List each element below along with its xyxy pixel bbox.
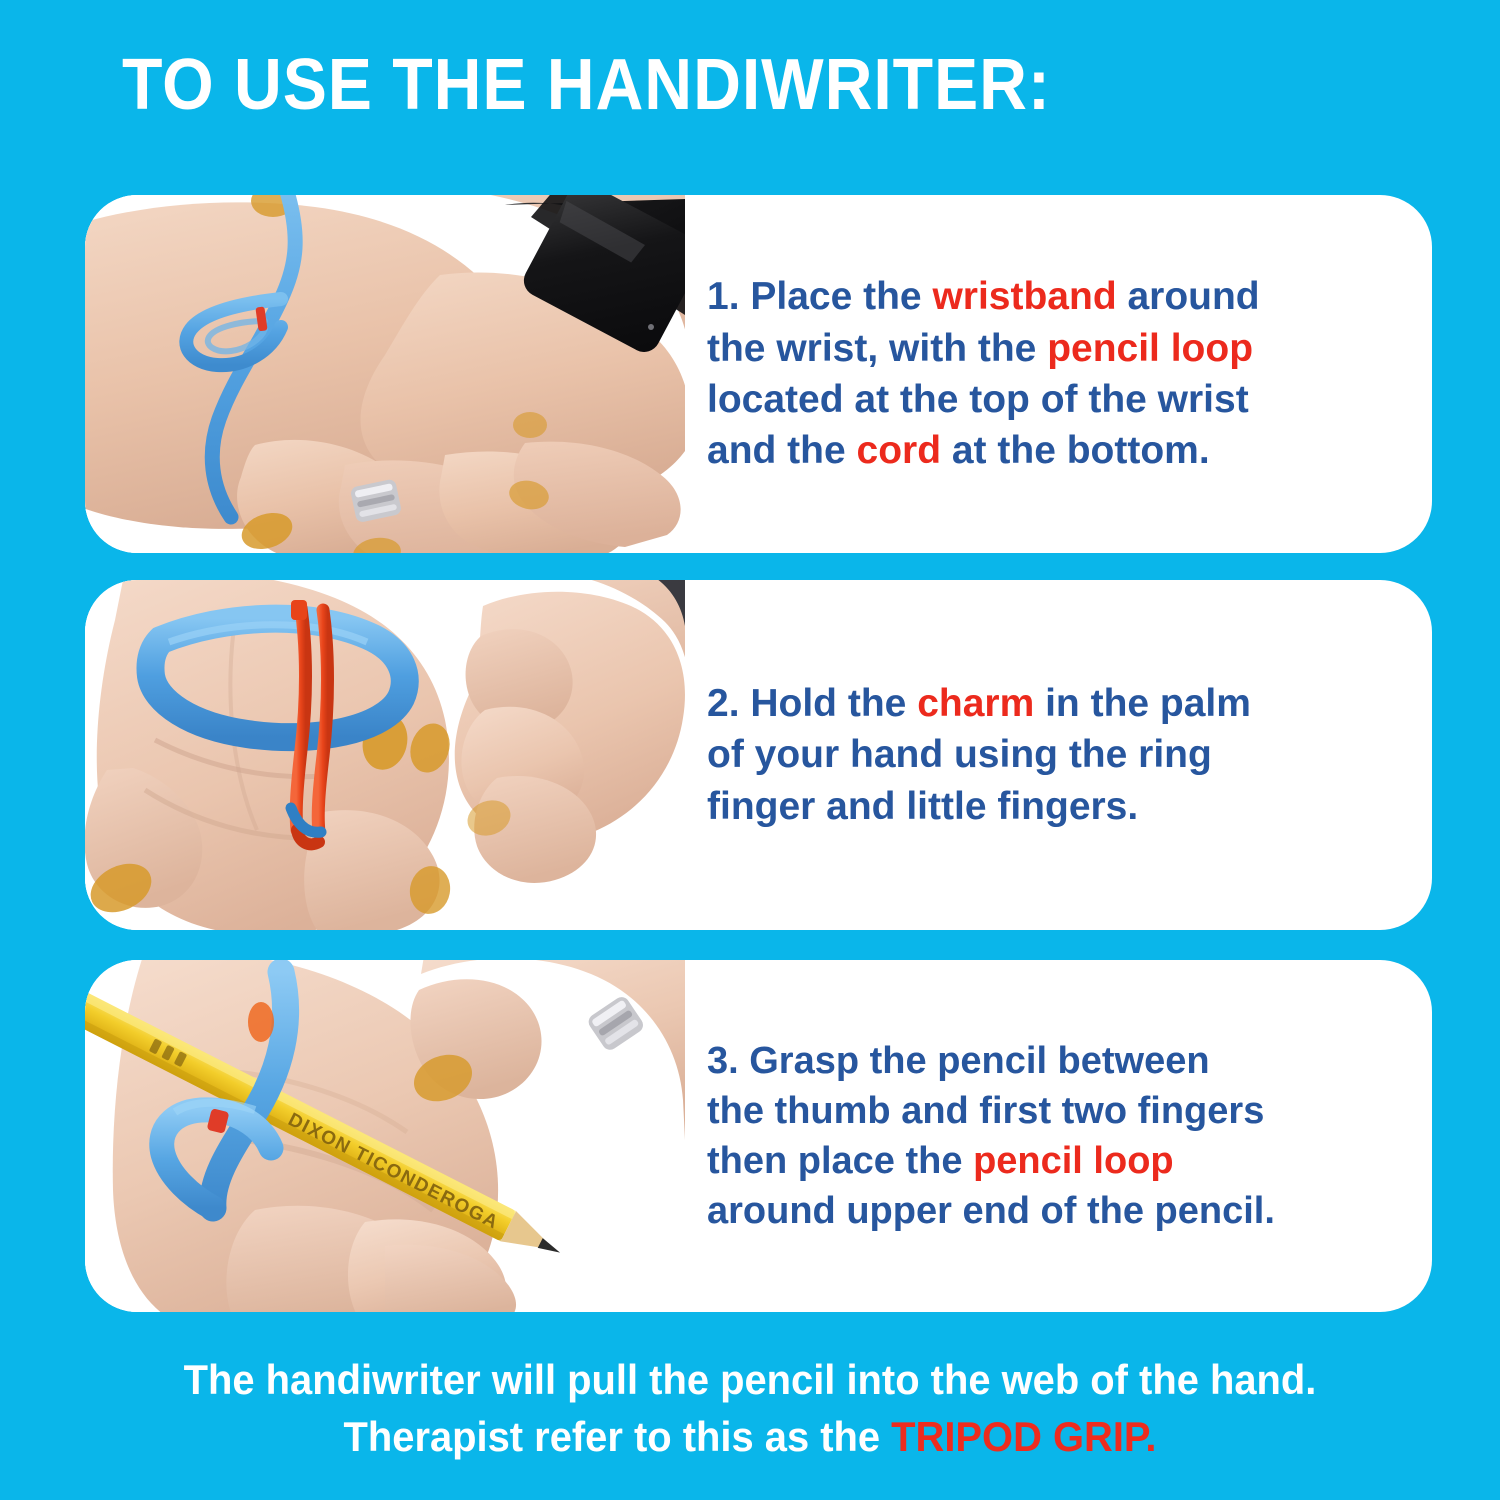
footer-line-2: Therapist refer to this as the TRIPOD GR… (38, 1409, 1463, 1466)
step-3-line-2: the thumb and first two fingers (707, 1086, 1402, 1136)
step-3-line-4: around upper end of the pencil. (707, 1186, 1402, 1236)
step-text-run: finger and little fingers. (707, 785, 1138, 828)
step-text-run: 1. Place the (707, 275, 932, 318)
step-1-line-1: 1. Place the wristband around (707, 271, 1402, 322)
step-2-line-2: of your hand using the ring (707, 729, 1402, 780)
step-text-run: 3. Grasp the pencil between (707, 1040, 1210, 1082)
step-card-3: DIXON TICONDEROGA 3. Grasp the pencil be… (85, 960, 1432, 1312)
step-2-photo (85, 580, 685, 930)
step-text-run: the wrist, with the (707, 327, 1047, 370)
footer-text-run: The handiwriter will pull the pencil int… (184, 1356, 1317, 1403)
step-text-run: 2. Hold the (707, 682, 917, 725)
step-text-run: at the bottom. (941, 429, 1210, 472)
highlight-term: charm (917, 682, 1034, 725)
step-text-run: and the (707, 429, 857, 472)
step-1-line-3: located at the top of the wrist (707, 374, 1402, 425)
step-3-illustration: DIXON TICONDEROGA (85, 960, 685, 1312)
step-text-run: then place the (707, 1140, 973, 1182)
step-text-run: located at the top of the wrist (707, 378, 1249, 421)
step-3-line-1: 3. Grasp the pencil between (707, 1036, 1402, 1086)
step-text-run: of your hand using the ring (707, 733, 1212, 776)
footer-note: The handiwriter will pull the pencil int… (38, 1352, 1463, 1465)
page-title: TO USE THE HANDIWRITER: (122, 48, 1051, 124)
step-text-run: around (1117, 275, 1260, 318)
step-1-line-2: the wrist, with the pencil loop (707, 323, 1402, 374)
highlight-term: pencil loop (973, 1140, 1174, 1182)
step-1-line-4: and the cord at the bottom. (707, 425, 1402, 476)
step-card-1: 1. Place the wristband around the wrist,… (85, 195, 1432, 553)
highlight-term: cord (857, 429, 942, 472)
step-3-line-3: then place the pencil loop (707, 1136, 1402, 1186)
step-text-run: the thumb and first two fingers (707, 1090, 1264, 1132)
step-2-text: 2. Hold the charm in the palm of your ha… (685, 580, 1432, 930)
footer-text-run: Therapist refer to this as the (344, 1413, 892, 1460)
step-card-2: 2. Hold the charm in the palm of your ha… (85, 580, 1432, 930)
step-2-line-1: 2. Hold the charm in the palm (707, 678, 1402, 729)
highlight-term: wristband (932, 275, 1116, 318)
step-1-text: 1. Place the wristband around the wrist,… (685, 195, 1432, 553)
step-3-photo: DIXON TICONDEROGA (85, 960, 685, 1312)
step-1-illustration (85, 195, 685, 553)
step-3-text: 3. Grasp the pencil between the thumb an… (685, 960, 1432, 1312)
step-2-illustration (85, 580, 685, 930)
step-text-run: around upper end of the pencil. (707, 1190, 1275, 1232)
step-2-line-3: finger and little fingers. (707, 781, 1402, 832)
step-text-run: in the palm (1034, 682, 1251, 725)
footer-line-1: The handiwriter will pull the pencil int… (38, 1352, 1463, 1409)
step-1-photo (85, 195, 685, 553)
footer-highlight: TRIPOD GRIP. (891, 1413, 1156, 1460)
infographic-page: TO USE THE HANDIWRITER: (0, 0, 1500, 1500)
highlight-term: pencil loop (1047, 327, 1253, 370)
